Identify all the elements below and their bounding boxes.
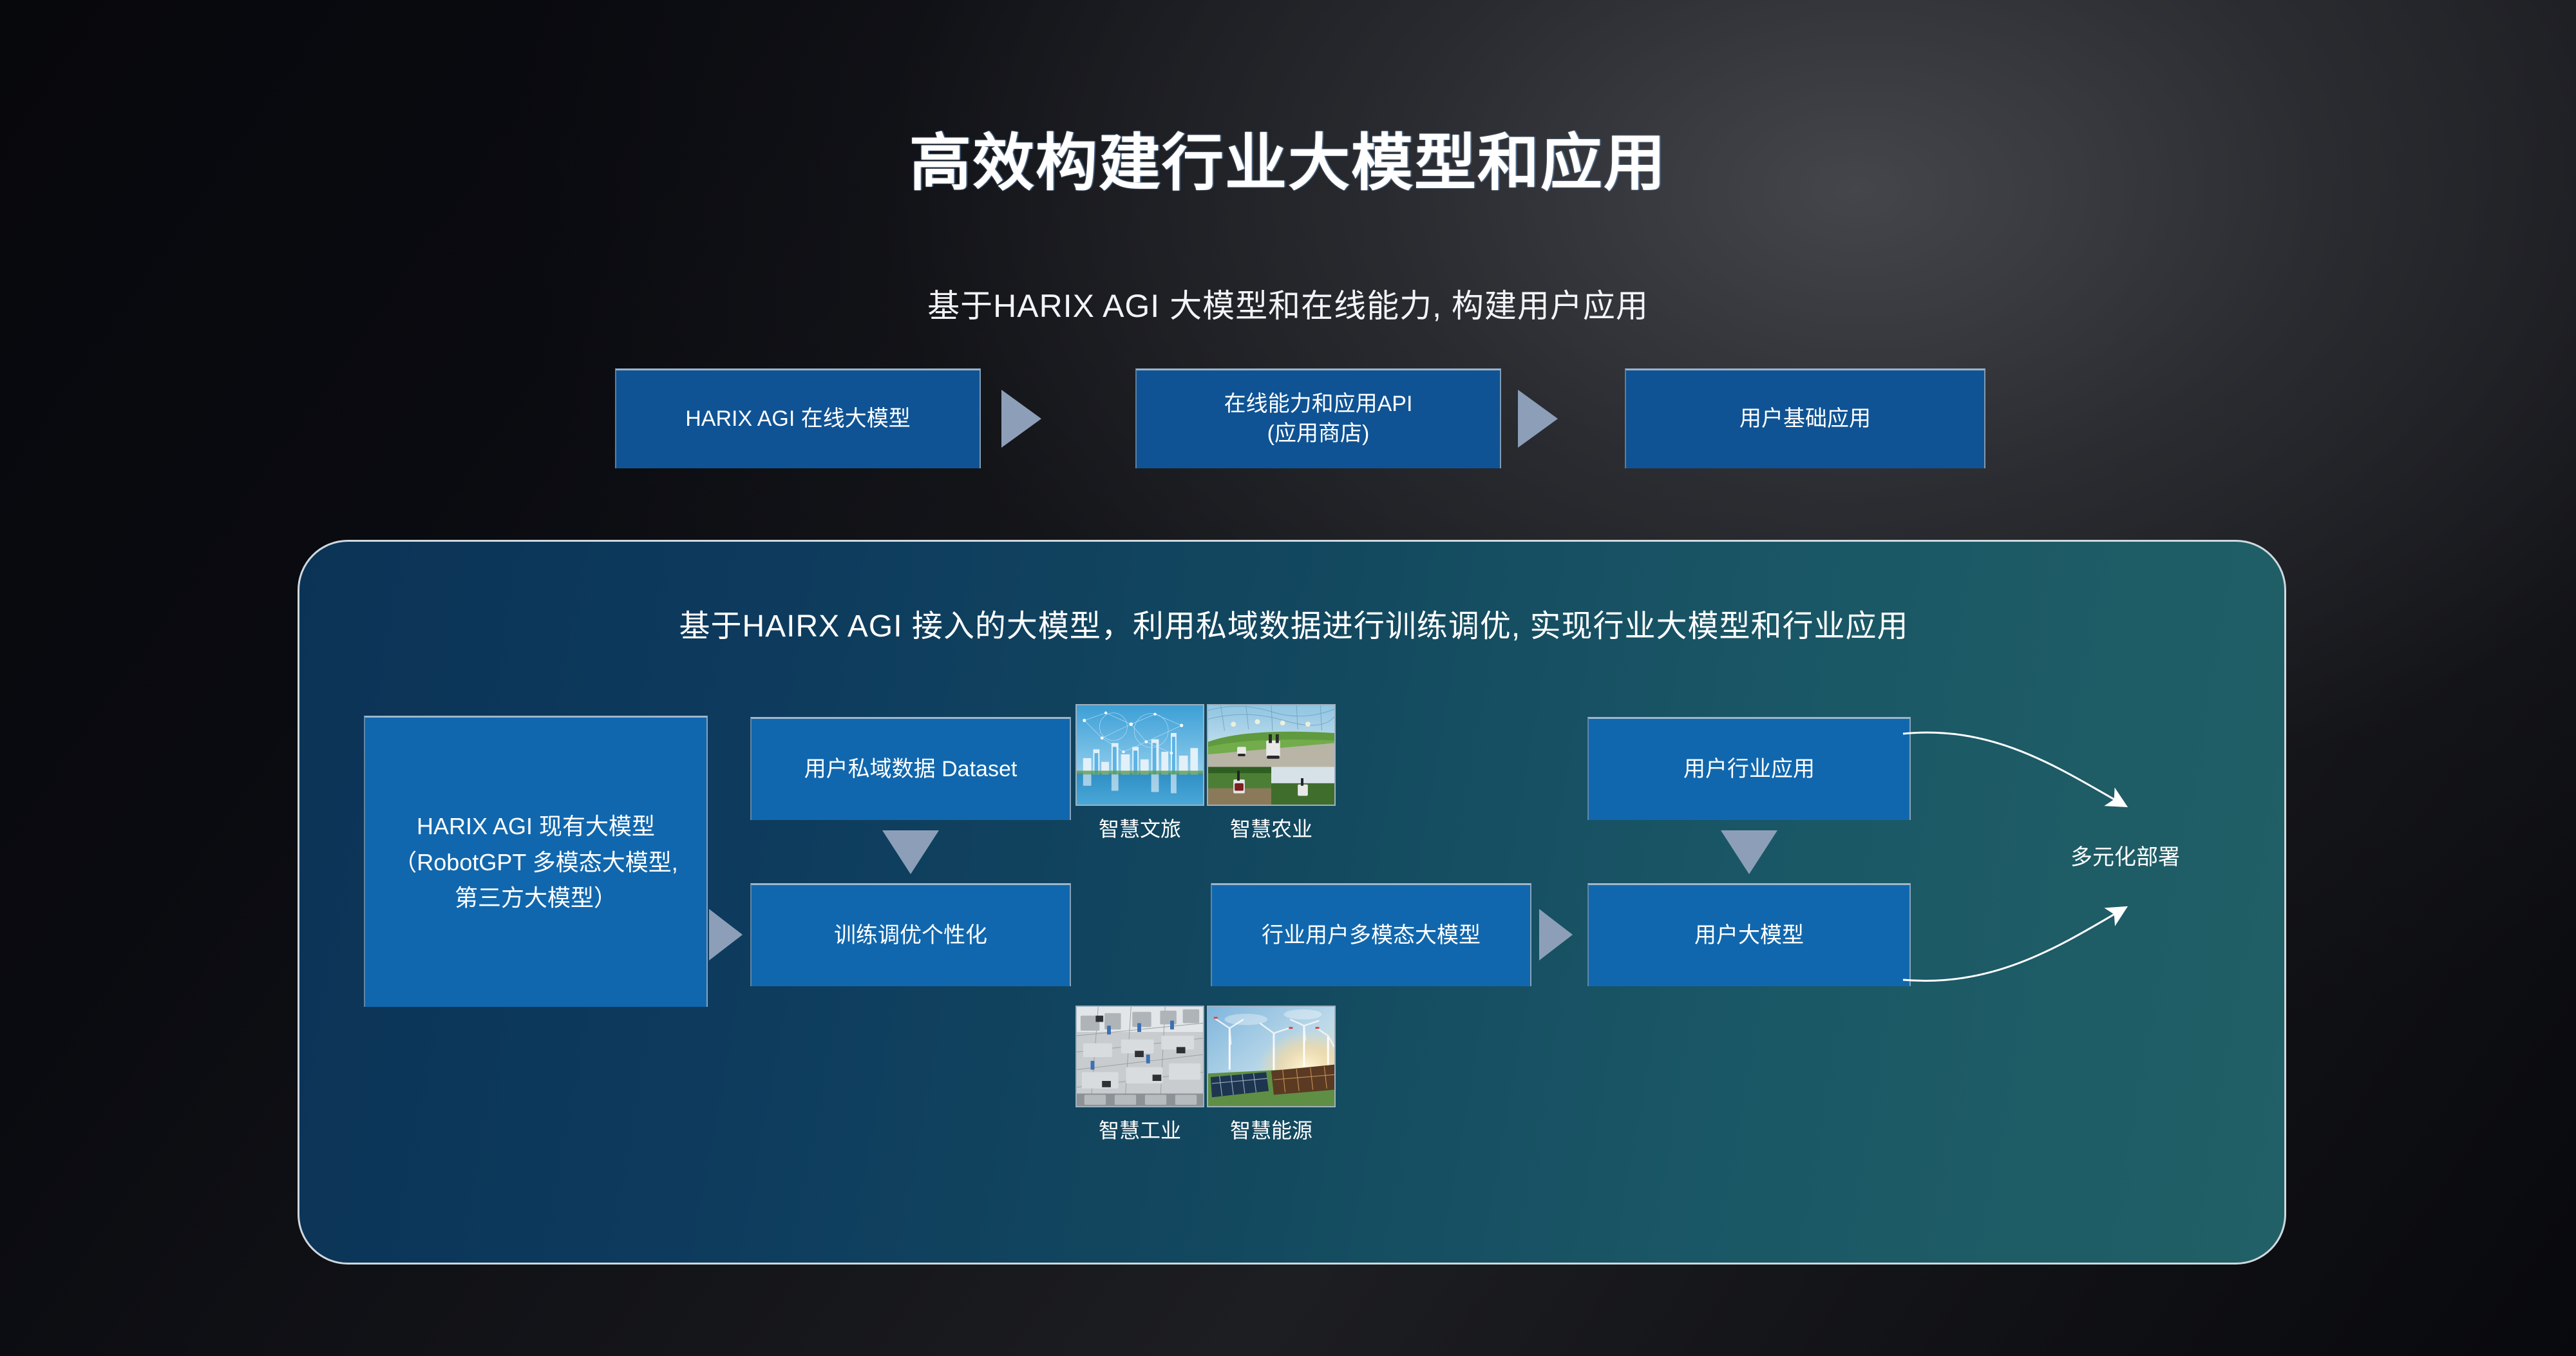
triangle-arrow-down-icon-1	[882, 830, 939, 874]
top-flow-box-api-store[interactable]: 在线能力和应用API (应用商店)	[1135, 368, 1501, 468]
triangle-arrow-right-icon-1	[1001, 390, 1041, 448]
panel-title: 基于HAIRX AGI 接入的大模型，利用私域数据进行训练调优, 实现行业大模型…	[299, 600, 2286, 645]
slide-canvas: 高效构建行业大模型和应用 基于HARIX AGI 大模型和在线能力, 构建用户应…	[0, 0, 2576, 1356]
subtitle: 基于HARIX AGI 大模型和在线能力, 构建用户应用	[0, 280, 2576, 327]
page-title: 高效构建行业大模型和应用	[0, 113, 2576, 202]
thumbnail-cell-smart-tourism[interactable]: 智慧文旅	[1075, 704, 1204, 843]
smart-agriculture-greenhouse-thumbnail	[1207, 704, 1336, 806]
top-flow-box-user-base-app[interactable]: 用户基础应用	[1625, 368, 1985, 468]
smart-energy-wind-solar-thumbnail	[1207, 1006, 1336, 1107]
thumbnail-cell-smart-agriculture[interactable]: 智慧农业	[1207, 704, 1336, 843]
top-flow-row: HARIX AGI 在线大模型 在线能力和应用API (应用商店) 用户基础应用	[615, 368, 1961, 472]
triangle-arrow-right-icon-2	[1518, 390, 1558, 448]
deployment-label: 多元化部署	[2070, 839, 2286, 871]
industry-model-panel: 基于HAIRX AGI 接入的大模型，利用私域数据进行训练调优, 实现行业大模型…	[298, 540, 2286, 1265]
thumbnail-cell-smart-industry[interactable]: 智慧工业	[1075, 1006, 1204, 1144]
triangle-arrow-down-icon-2	[1721, 830, 1777, 874]
panel-box-user-industry-app[interactable]: 用户行业应用	[1587, 717, 1911, 820]
panel-box-industry-multimodal-model[interactable]: 行业用户多模态大模型	[1211, 883, 1531, 986]
thumbnail-label-smart-tourism: 智慧文旅	[1075, 813, 1204, 843]
thumbnail-label-smart-industry: 智慧工业	[1075, 1114, 1204, 1144]
thumbnail-label-smart-agriculture: 智慧农业	[1207, 813, 1336, 843]
triangle-arrow-right-icon-4	[1539, 909, 1573, 960]
thumbnail-cell-smart-energy[interactable]: 智慧能源	[1207, 1006, 1336, 1144]
panel-box-user-large-model[interactable]: 用户大模型	[1587, 883, 1911, 986]
triangle-arrow-right-icon-3	[709, 909, 743, 960]
smart-industry-factory-thumbnail	[1075, 1006, 1204, 1107]
panel-box-existing-models[interactable]: HARIX AGI 现有大模型 （RobotGPT 多模态大模型, 第三方大模型…	[364, 716, 708, 1007]
panel-box-private-dataset[interactable]: 用户私域数据 Dataset	[750, 717, 1071, 820]
top-flow-box-online-model[interactable]: HARIX AGI 在线大模型	[615, 368, 981, 468]
smart-tourism-city-thumbnail	[1075, 704, 1204, 806]
panel-box-train-tune[interactable]: 训练调优个性化	[750, 883, 1071, 986]
thumbnail-label-smart-energy: 智慧能源	[1207, 1114, 1336, 1144]
